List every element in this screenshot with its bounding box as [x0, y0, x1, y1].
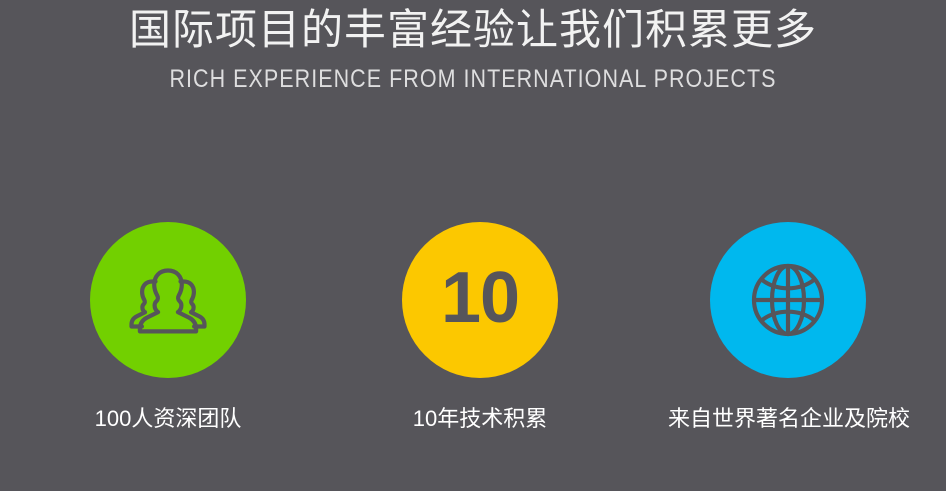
feature-row: 100人资深团队 10 10年技术积累 [0, 222, 946, 452]
feature-caption-global: 来自世界著名企业及院校 [668, 378, 908, 433]
feature-item-team: 100人资深团队 [48, 222, 288, 433]
slide-header: 国际项目的丰富经验让我们积累更多 RICH EXPERIENCE FROM IN… [0, 0, 946, 94]
feature-caption-years: 10年技术积累 [360, 378, 600, 433]
feature-circle-blue [710, 222, 866, 378]
feature-circle-green [90, 222, 246, 378]
feature-caption-team: 100人资深团队 [48, 378, 288, 433]
feature-item-global: 来自世界著名企业及院校 [668, 222, 908, 433]
page-subtitle: RICH EXPERIENCE FROM INTERNATIONAL PROJE… [66, 56, 880, 94]
feature-circle-yellow: 10 [402, 222, 558, 378]
people-group-icon [125, 265, 211, 335]
page-title: 国际项目的丰富经验让我们积累更多 [0, 0, 946, 56]
globe-icon [749, 261, 827, 339]
number-badge-icon: 10 [441, 262, 519, 334]
slide-canvas: 国际项目的丰富经验让我们积累更多 RICH EXPERIENCE FROM IN… [0, 0, 946, 491]
feature-item-years: 10 10年技术积累 [360, 222, 600, 433]
